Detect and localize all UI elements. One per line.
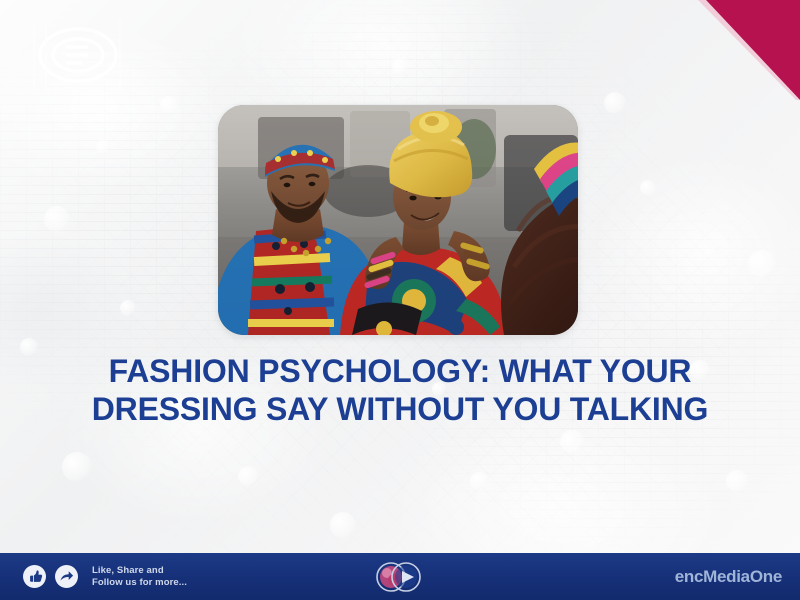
share-arrow-icon[interactable] — [54, 564, 79, 589]
thumbs-up-icon[interactable] — [22, 564, 47, 589]
play-button-logo[interactable] — [369, 558, 431, 596]
footer-social-group: Like, Share and Follow us for more... — [0, 564, 187, 589]
footer-cta-text: Like, Share and Follow us for more... — [92, 565, 187, 588]
corner-accent-wedge — [690, 0, 800, 100]
hero-image — [218, 105, 578, 335]
brand-wordmark: encMediaOne — [675, 567, 782, 587]
title-block: FASHION PSYCHOLOGY: WHAT YOUR DRESSING S… — [36, 352, 764, 428]
slide-canvas: FASHION PSYCHOLOGY: WHAT YOUR DRESSING S… — [0, 0, 800, 600]
corner-watermark-logo — [26, 16, 130, 94]
page-title: FASHION PSYCHOLOGY: WHAT YOUR DRESSING S… — [36, 352, 764, 428]
footer-bar: Like, Share and Follow us for more... en… — [0, 553, 800, 600]
